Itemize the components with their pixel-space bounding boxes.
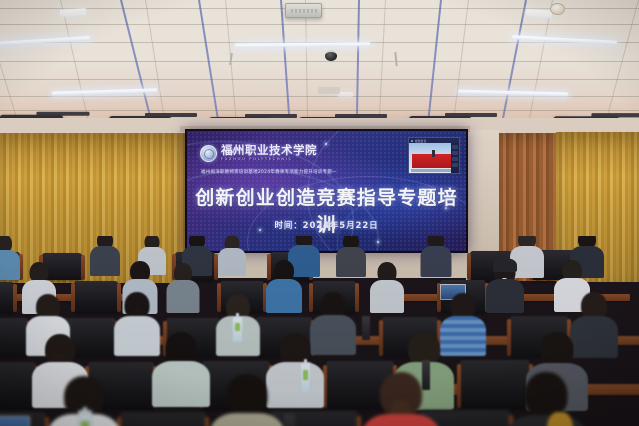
institution-logo: 福州职业技术学院 FUZHOU POLYTECHNIC <box>200 145 317 162</box>
ceiling-seam <box>280 0 291 132</box>
ceiling-seam <box>356 0 360 132</box>
shoulder-bag-icon <box>547 412 573 426</box>
audience-seating: D <box>0 236 639 426</box>
slide-date: 时间：2024年5月22日 <box>187 219 466 231</box>
red-jacket-person <box>362 372 440 426</box>
smoke-detector-icon <box>550 3 565 15</box>
audience-row <box>0 386 639 426</box>
university-seal-icon <box>200 145 217 162</box>
projector-icon <box>285 3 322 18</box>
ceiling-panel-light <box>338 92 353 97</box>
pip-window-title: 视频会议 <box>415 139 427 143</box>
water-bottle-icon <box>232 316 243 342</box>
ceiling-vent <box>318 87 340 94</box>
institution-name-en: FUZHOU POLYTECHNIC <box>221 158 317 162</box>
ceiling-tile-grid <box>0 0 639 132</box>
ceiling-seam <box>426 0 442 131</box>
audience-member <box>210 374 284 426</box>
led-display-screen: 福州职业技术学院 FUZHOU POLYTECHNIC 福州闽洋职教师资培训基地… <box>185 129 468 253</box>
dome-camera-icon <box>325 50 337 61</box>
thermos-icon <box>284 414 295 426</box>
picture-in-picture-window: 视频会议 <box>408 137 460 174</box>
institution-name-cn: 福州职业技术学院 <box>221 145 317 157</box>
water-bottle-icon <box>78 410 92 426</box>
pip-participant-strip <box>451 143 459 173</box>
laptop-icon <box>0 416 30 426</box>
lecture-hall-photo: 福州职业技术学院 FUZHOU POLYTECHNIC 福州闽洋职教师资培训基地… <box>0 0 639 426</box>
pip-red-banner <box>412 154 456 168</box>
thermos-icon <box>362 316 370 340</box>
mustard-bag-person <box>506 372 586 426</box>
slide-content: 福州职业技术学院 FUZHOU POLYTECHNIC 福州闽洋职教师资培训基地… <box>187 131 466 251</box>
baseball-cap-icon <box>493 258 517 272</box>
ceiling <box>0 0 639 132</box>
